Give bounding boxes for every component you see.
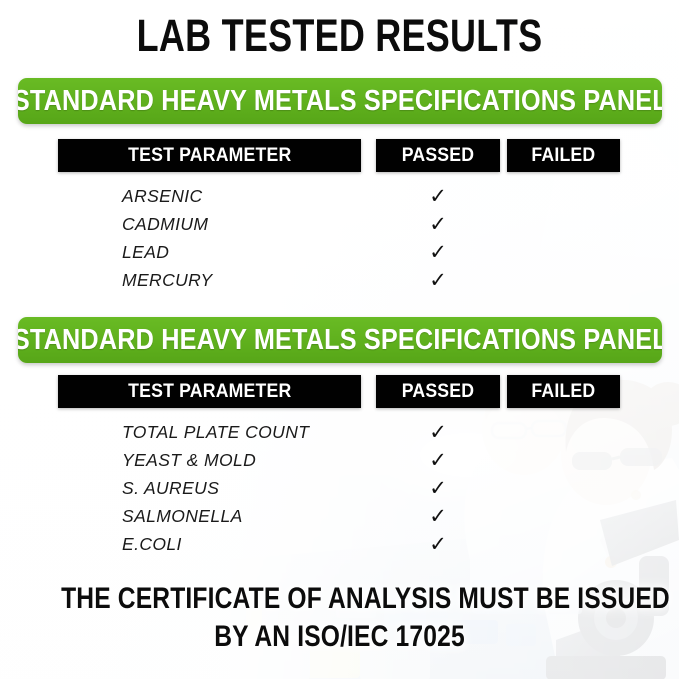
row-passed-check: ✓ — [418, 238, 458, 266]
footer-statement-line-2: BY AN ISO/IEC 17025 — [61, 618, 618, 656]
table-row: SALMONELLA ✓ — [0, 502, 679, 530]
row-passed-check: ✓ — [418, 210, 458, 238]
footer-statement-line-1: THE CERTIFICATE OF ANALYSIS MUST BE ISSU… — [61, 580, 618, 618]
column-header-failed: FAILED — [507, 375, 620, 408]
table-body-2: TOTAL PLATE COUNT ✓ YEAST & MOLD ✓ S. AU… — [0, 418, 679, 558]
column-header-passed: PASSED — [376, 375, 500, 408]
column-header-label: TEST PARAMETER — [128, 145, 291, 167]
column-header-failed: FAILED — [507, 139, 620, 172]
row-parameter-label: S. AUREUS — [122, 474, 219, 502]
table-row: YEAST & MOLD ✓ — [0, 446, 679, 474]
row-passed-check: ✓ — [418, 474, 458, 502]
row-passed-check: ✓ — [418, 418, 458, 446]
row-parameter-label: CADMIUM — [122, 210, 208, 238]
table-row: CADMIUM ✓ — [0, 210, 679, 238]
row-passed-check: ✓ — [418, 266, 458, 294]
column-header-label: FAILED — [532, 145, 596, 167]
table-row: TOTAL PLATE COUNT ✓ — [0, 418, 679, 446]
column-header-label: FAILED — [532, 381, 596, 403]
row-parameter-label: YEAST & MOLD — [122, 446, 256, 474]
row-parameter-label: E.COLI — [122, 530, 182, 558]
column-header-test-parameter: TEST PARAMETER — [58, 375, 361, 408]
table-body-1: ARSENIC ✓ CADMIUM ✓ LEAD ✓ MERCURY ✓ — [0, 182, 679, 294]
table-row: ARSENIC ✓ — [0, 182, 679, 210]
section-banner-microbiology: STANDARD HEAVY METALS SPECIFICATIONS PAN… — [18, 317, 662, 363]
table-header-row-2: TEST PARAMETER PASSED FAILED — [0, 375, 679, 408]
section-banner-heavy-metals: STANDARD HEAVY METALS SPECIFICATIONS PAN… — [18, 78, 662, 124]
row-passed-check: ✓ — [418, 502, 458, 530]
column-header-label: TEST PARAMETER — [128, 381, 291, 403]
row-passed-check: ✓ — [418, 530, 458, 558]
row-parameter-label: MERCURY — [122, 266, 213, 294]
row-parameter-label: SALMONELLA — [122, 502, 243, 530]
row-parameter-label: TOTAL PLATE COUNT — [122, 418, 309, 446]
row-passed-check: ✓ — [418, 182, 458, 210]
section-banner-label: STANDARD HEAVY METALS SPECIFICATIONS PAN… — [18, 325, 662, 355]
column-header-label: PASSED — [402, 145, 474, 167]
column-header-passed: PASSED — [376, 139, 500, 172]
row-parameter-label: LEAD — [122, 238, 169, 266]
column-header-test-parameter: TEST PARAMETER — [58, 139, 361, 172]
section-banner-label: STANDARD HEAVY METALS SPECIFICATIONS PAN… — [18, 86, 662, 116]
row-passed-check: ✓ — [418, 446, 458, 474]
table-header-row-1: TEST PARAMETER PASSED FAILED — [0, 139, 679, 172]
table-row: MERCURY ✓ — [0, 266, 679, 294]
table-row: LEAD ✓ — [0, 238, 679, 266]
column-header-label: PASSED — [402, 381, 474, 403]
table-row: S. AUREUS ✓ — [0, 474, 679, 502]
row-parameter-label: ARSENIC — [122, 182, 203, 210]
table-row: E.COLI ✓ — [0, 530, 679, 558]
page-title: LAB TESTED RESULTS — [68, 9, 611, 63]
